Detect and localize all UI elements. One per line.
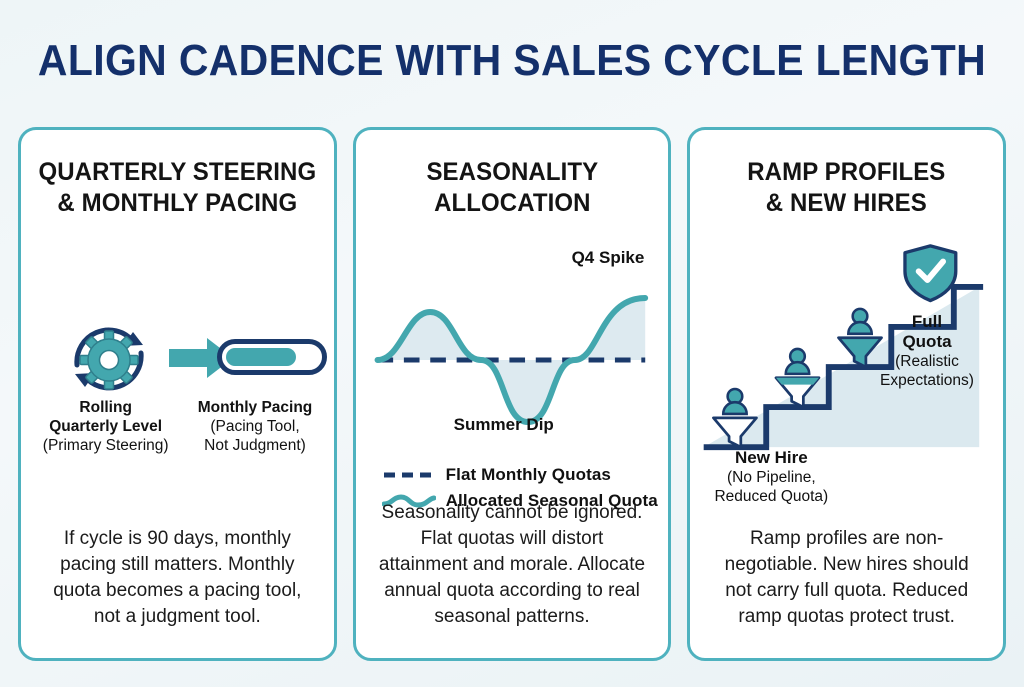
panel-ramp-profiles: RAMP PROFILES & NEW HIRES [687, 127, 1006, 661]
process-flow-row [21, 315, 334, 395]
panel-body-text: Seasonality cannot be ignored. Flat quot… [378, 500, 647, 630]
seasonality-chart: Q4 Spike Summer Dip Flat Monthly Quotas [356, 240, 669, 530]
monthly-pacing-strong: Monthly Pacing [180, 398, 329, 417]
progress-pill-icon [217, 339, 327, 375]
panel-body-text: Ramp profiles are non-negotiable. New hi… [712, 526, 981, 630]
monthly-pacing-label: Monthly Pacing (Pacing Tool, Not Judgmen… [180, 398, 333, 455]
panel-title: QUARTERLY STEERING & MONTHLY PACING [27, 157, 327, 219]
panel-title: SEASONALITY ALLOCATION [362, 157, 662, 219]
legend-item-flat-quotas: Flat Monthly Quotas [382, 462, 672, 488]
infographic-canvas: ALIGN CADENCE WITH SALES CYCLE LENGTH QU… [0, 0, 1024, 687]
rolling-quarterly-sub: (Primary Steering) [31, 436, 180, 455]
label-new-hire: New Hire (No Pipeline, Reduced Quota) [696, 448, 846, 506]
annotation-q4-spike: Q4 Spike [572, 248, 645, 268]
new-hire-sub: (No Pipeline, Reduced Quota) [714, 469, 828, 505]
panel-title: RAMP PROFILES & NEW HIRES [697, 157, 997, 219]
step-4-shield-check-icon [905, 246, 956, 301]
legend-label: Flat Monthly Quotas [446, 465, 611, 485]
quarterly-steering-diagram: Rolling Quarterly Level (Primary Steerin… [21, 240, 334, 530]
process-flow-labels: Rolling Quarterly Level (Primary Steerin… [21, 398, 334, 455]
panel-body-text: If cycle is 90 days, monthly pacing stil… [43, 526, 312, 630]
rolling-quarterly-strong: Rolling Quarterly Level [31, 398, 180, 436]
panel-container: QUARTERLY STEERING & MONTHLY PACING [18, 127, 1006, 661]
ramp-staircase-diagram: New Hire (No Pipeline, Reduced Quota) Fu… [690, 240, 1003, 530]
monthly-pacing-sub: (Pacing Tool, Not Judgment) [180, 417, 329, 455]
panel-seasonality-allocation: SEASONALITY ALLOCATION Q4 Spike Summer D… [353, 127, 672, 661]
rolling-quarterly-label: Rolling Quarterly Level (Primary Steerin… [21, 398, 180, 455]
panel-quarterly-steering: QUARTERLY STEERING & MONTHLY PACING [18, 127, 337, 661]
dashed-line-swatch-icon [382, 467, 436, 483]
page-title: ALIGN CADENCE WITH SALES CYCLE LENGTH [36, 36, 988, 86]
rolling-gear-icon [63, 315, 155, 403]
label-full-quota: Full Quota (Realistic Expectations) [857, 312, 997, 390]
annotation-summer-dip: Summer Dip [454, 415, 554, 435]
full-quota-strong: Full Quota [857, 312, 997, 352]
new-hire-strong: New Hire [696, 448, 846, 468]
full-quota-sub: (Realistic Expectations) [880, 353, 974, 389]
